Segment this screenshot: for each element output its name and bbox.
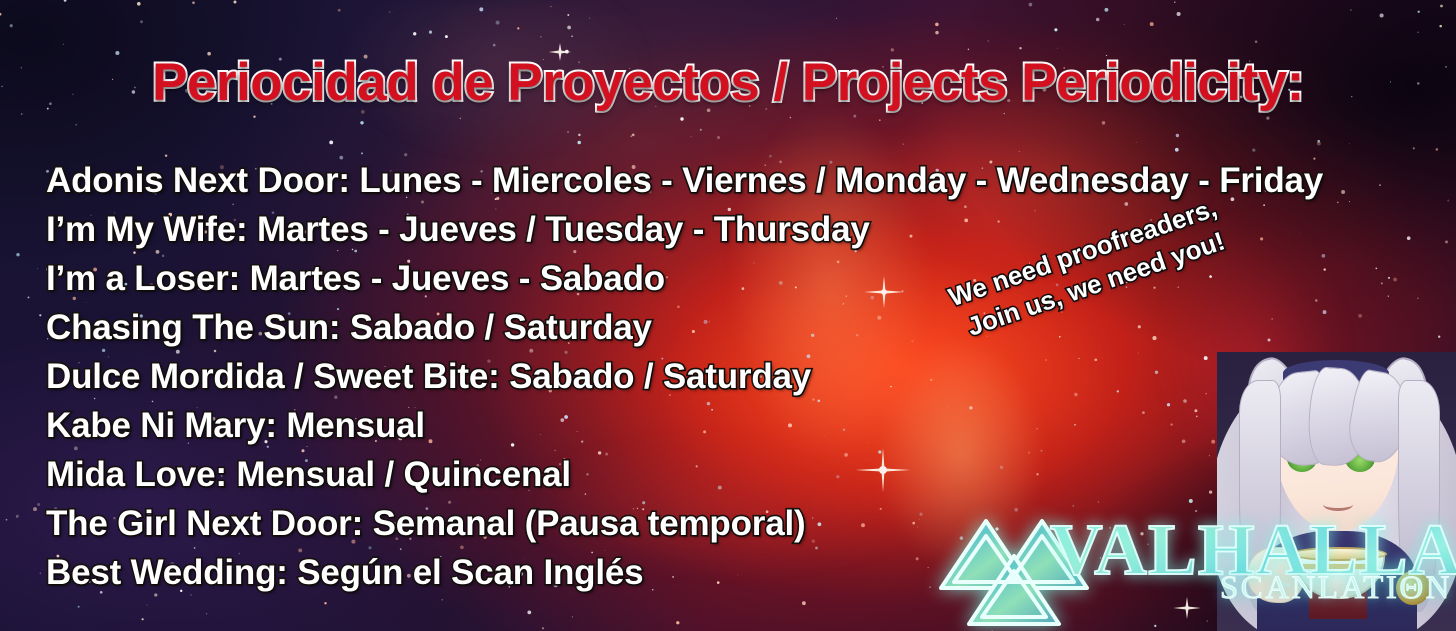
page-title: Periocidad de Proyectos / Projects Perio…	[0, 52, 1456, 113]
list-item: Adonis Next Door: Lunes - Miercoles - Vi…	[46, 156, 1436, 205]
list-item: Chasing The Sun: Sabado / Saturday	[46, 303, 1436, 352]
list-item: I’m a Loser: Martes - Jueves - Sabado	[46, 254, 1436, 303]
brand-logo: VALHALLA VALHALLA SCANLATIΘN	[938, 512, 1456, 631]
valhalla-scanlation-banner: Periocidad de Proyectos / Projects Perio…	[0, 0, 1456, 631]
brand-subtitle: SCANLATIΘN	[1220, 570, 1452, 607]
